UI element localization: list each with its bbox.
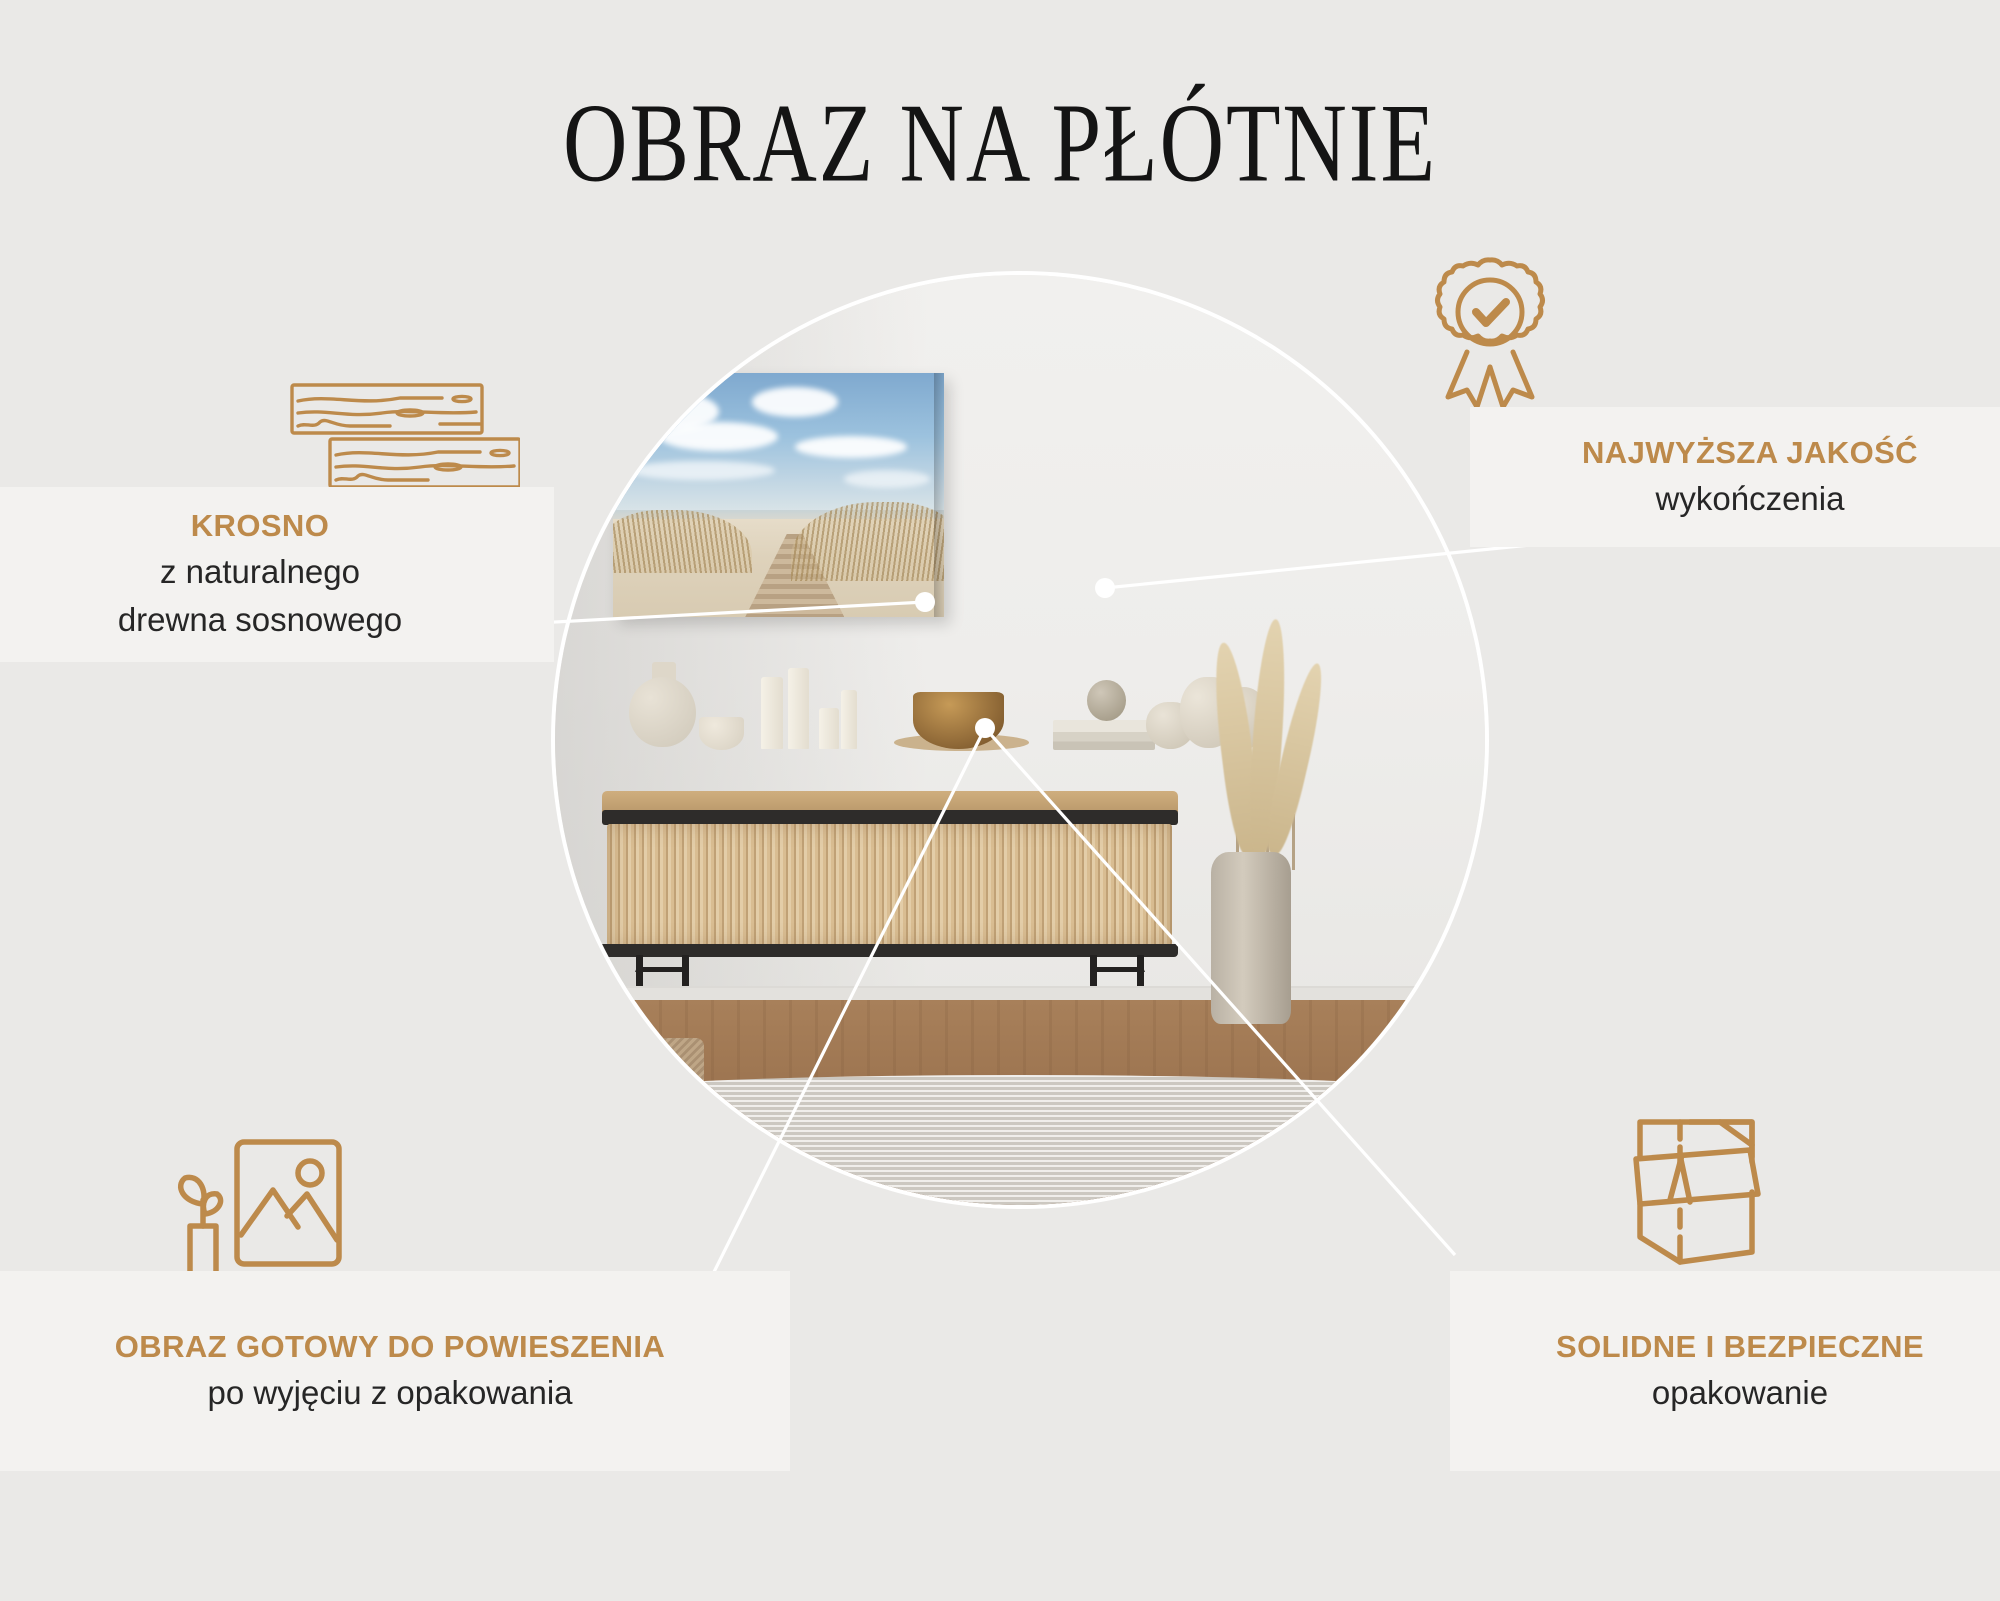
brass-bowl <box>913 692 1004 750</box>
feature-subtitle-krosno-line2: drewna sosnowego <box>0 599 530 640</box>
sideboard-fluted-front <box>607 824 1172 946</box>
feature-panel-gotowy: OBRAZ GOTOWY DO POWIESZENIA po wyjęciu z… <box>0 1271 790 1471</box>
feature-panel-opakowanie: SOLIDNE I BEZPIECZNE opakowanie <box>1450 1271 2000 1471</box>
feature-title-jakosc: NAJWYŻSZA JAKOŚĆ <box>1470 435 2000 471</box>
feature-subtitle-opakowanie: opakowanie <box>1450 1372 2000 1413</box>
feature-subtitle-jakosc: wykończenia <box>1470 478 2000 519</box>
infographic-root: OBRAZ NA PŁÓTNIE <box>0 0 2000 1601</box>
candle <box>819 708 839 749</box>
canvas-side-edge <box>934 373 944 618</box>
canvas-artwork <box>613 373 944 618</box>
page-title: OBRAZ NA PŁÓTNIE <box>30 78 1970 207</box>
cloud <box>659 422 778 451</box>
feature-panel-jakosc: NAJWYŻSZA JAKOŚĆ wykończenia <box>1470 407 2000 547</box>
wood-planks-icon <box>290 382 520 497</box>
feature-subtitle-gotowy: po wyjęciu z opakowania <box>0 1372 790 1413</box>
area-rug <box>555 1075 1485 1205</box>
stacked-books <box>1053 720 1155 750</box>
candle <box>761 677 782 750</box>
small-bowl <box>699 717 744 750</box>
package-box-icon <box>1620 1112 1790 1277</box>
cloud <box>844 470 930 487</box>
product-scene-circle <box>555 275 1485 1205</box>
candle <box>788 668 809 749</box>
feature-panel-krosno: KROSNO z naturalnego drewna sosnowego <box>0 487 554 662</box>
interior-scene <box>555 275 1485 1205</box>
sideboard <box>602 791 1179 982</box>
feature-subtitle-krosno-line1: z naturalnego <box>0 551 530 592</box>
feature-title-opakowanie: SOLIDNE I BEZPIECZNE <box>1450 1329 2000 1365</box>
floor-vase <box>1211 852 1291 1024</box>
sideboard-top <box>602 791 1179 812</box>
feature-title-gotowy: OBRAZ GOTOWY DO POWIESZENIA <box>0 1329 790 1365</box>
cloud <box>752 387 838 416</box>
cloud <box>629 461 775 481</box>
feature-title-krosno: KROSNO <box>0 508 530 544</box>
round-vase <box>629 677 696 748</box>
sideboard-leg-brace <box>635 967 689 972</box>
quality-badge-icon <box>1415 252 1565 417</box>
candle <box>841 690 857 750</box>
sideboard-leg-brace <box>1091 967 1145 972</box>
